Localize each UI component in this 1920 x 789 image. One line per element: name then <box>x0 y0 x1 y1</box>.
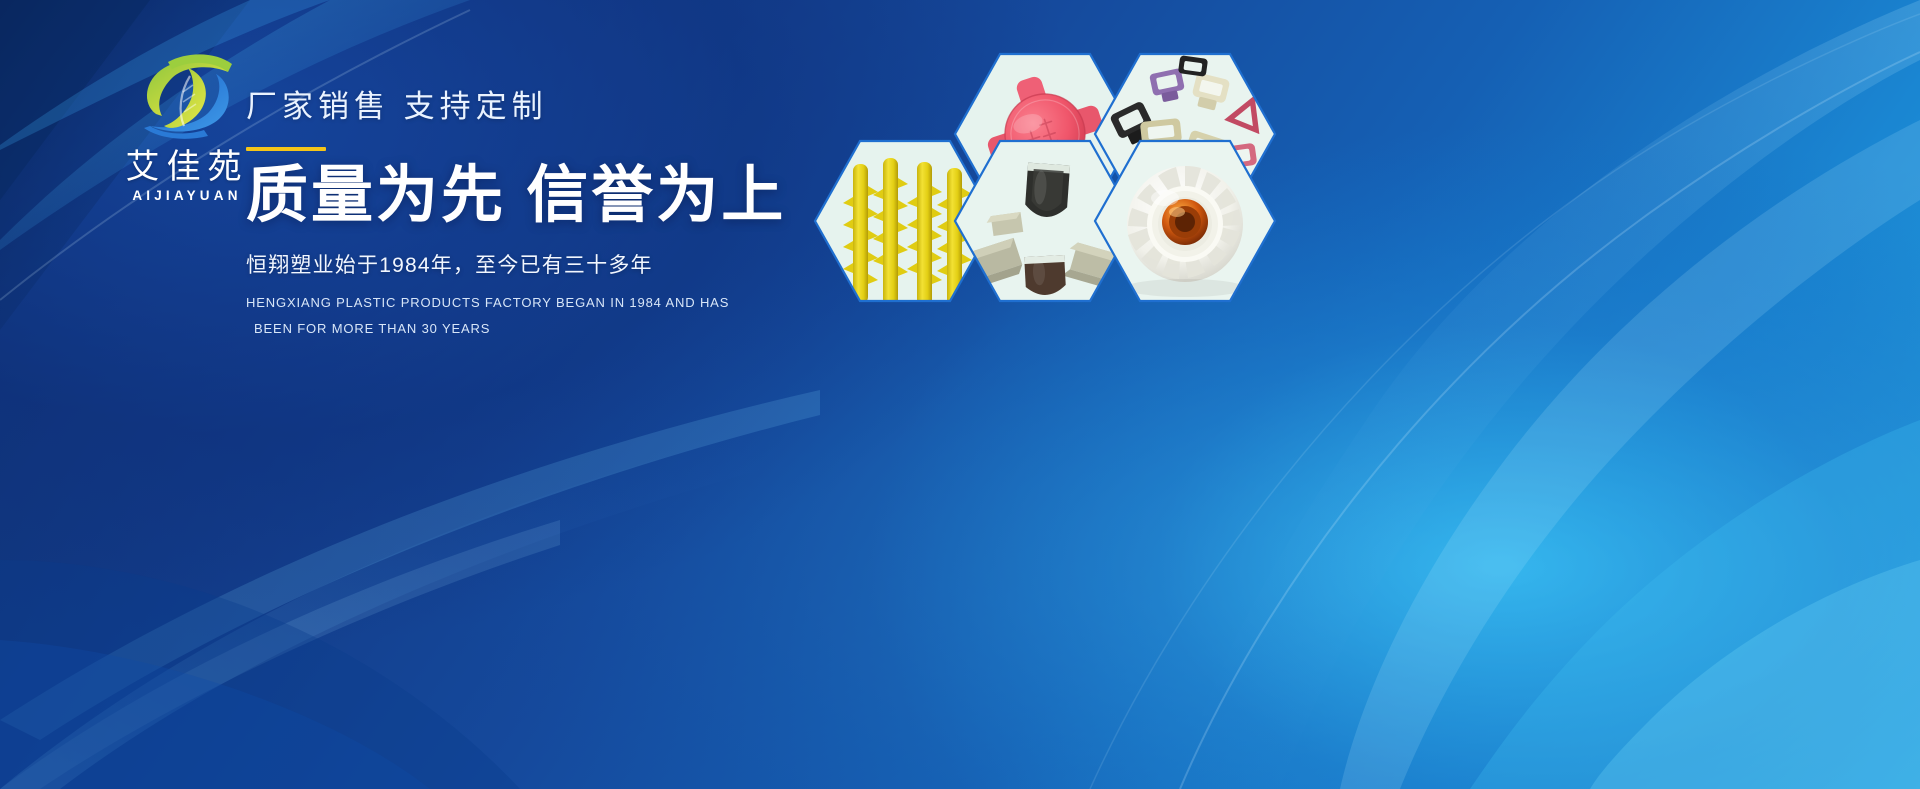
headline-block: 厂家销售 支持定制 质量为先 信誉为上 恒翔塑业始于1984年，至今已有三十多年… <box>246 88 886 341</box>
subtitle-en-line-1: HENGXIANG PLASTIC PRODUCTS FACTORY BEGAN… <box>246 290 886 315</box>
product-hexagon-collage <box>795 46 1315 391</box>
logo-emblem-icon <box>112 52 262 144</box>
eyebrow-text: 厂家销售 支持定制 <box>246 88 886 127</box>
gold-divider <box>246 147 326 151</box>
subtitle-en: HENGXIANG PLASTIC PRODUCTS FACTORY BEGAN… <box>246 290 886 341</box>
headline-text: 质量为先 信誉为上 <box>246 161 886 230</box>
subtitle-en-line-2: BEEN FOR MORE THAN 30 YEARS <box>246 316 886 341</box>
subtitle-cn: 恒翔塑业始于1984年，至今已有三十多年 <box>246 252 886 279</box>
promo-banner: 艾佳苑 AIJIAYUAN 厂家销售 支持定制 质量为先 信誉为上 恒翔塑业始于… <box>0 0 1920 789</box>
